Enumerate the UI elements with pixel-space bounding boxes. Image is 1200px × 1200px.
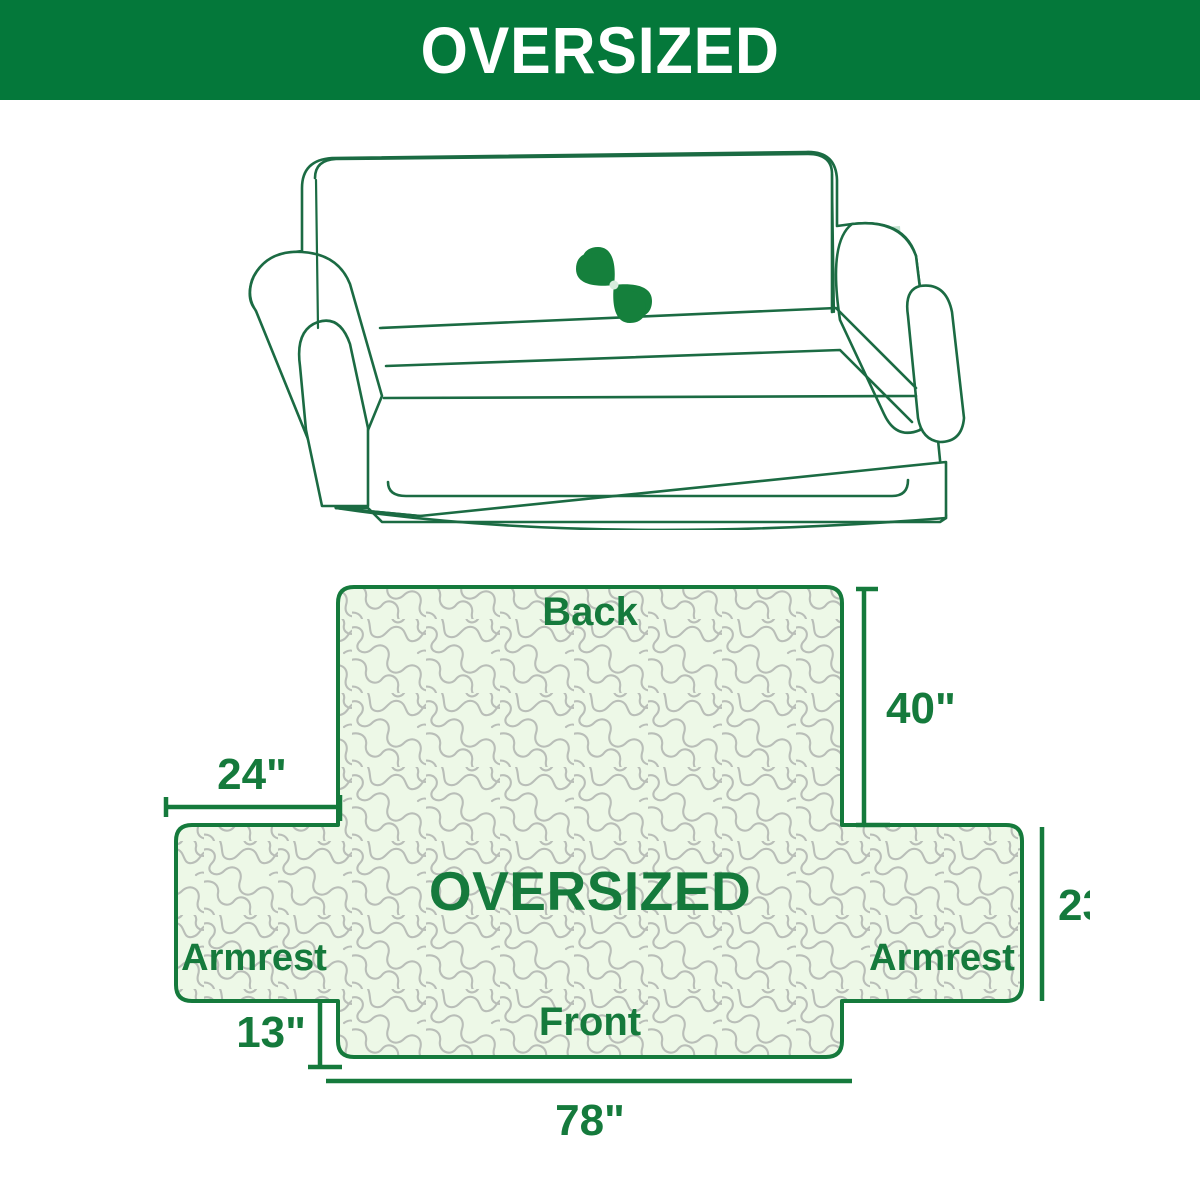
pattern-svg: .po { fill: url(#quilt); stroke:#157A3C;… bbox=[130, 545, 1090, 1165]
slipcover-flat-pattern bbox=[176, 587, 1022, 1057]
section-label-front: Front bbox=[539, 1000, 641, 1044]
page-title: OVERSIZED bbox=[420, 17, 779, 83]
dimension-armrest-height: 23" bbox=[1042, 827, 1090, 1001]
header-banner: OVERSIZED bbox=[0, 0, 1200, 100]
sofa-illustration: .so { fill:none; stroke:#1B6B43; stroke-… bbox=[240, 130, 980, 530]
dimension-total-width: 78" bbox=[326, 1081, 852, 1145]
dimension-armrest-width: 24" bbox=[166, 750, 340, 821]
dimension-value-78: 78" bbox=[555, 1096, 625, 1145]
dimension-value-23: 23" bbox=[1058, 881, 1090, 930]
dimension-value-40: 40" bbox=[886, 684, 956, 733]
dimension-value-13: 13" bbox=[236, 1008, 306, 1057]
diagram-center-label: OVERSIZED bbox=[429, 860, 751, 922]
section-label-right-armrest: Armrest bbox=[869, 937, 1015, 979]
pattern-diagram: .po { fill: url(#quilt); stroke:#157A3C;… bbox=[130, 545, 1090, 1165]
dimension-value-24: 24" bbox=[217, 750, 287, 799]
dimension-front-height: 13" bbox=[236, 1001, 342, 1067]
section-label-left-armrest: Armrest bbox=[181, 937, 327, 979]
section-label-back: Back bbox=[542, 590, 638, 634]
sofa-drawing: .so { fill:none; stroke:#1B6B43; stroke-… bbox=[240, 130, 980, 530]
dimension-back-height: 40" bbox=[856, 589, 956, 825]
